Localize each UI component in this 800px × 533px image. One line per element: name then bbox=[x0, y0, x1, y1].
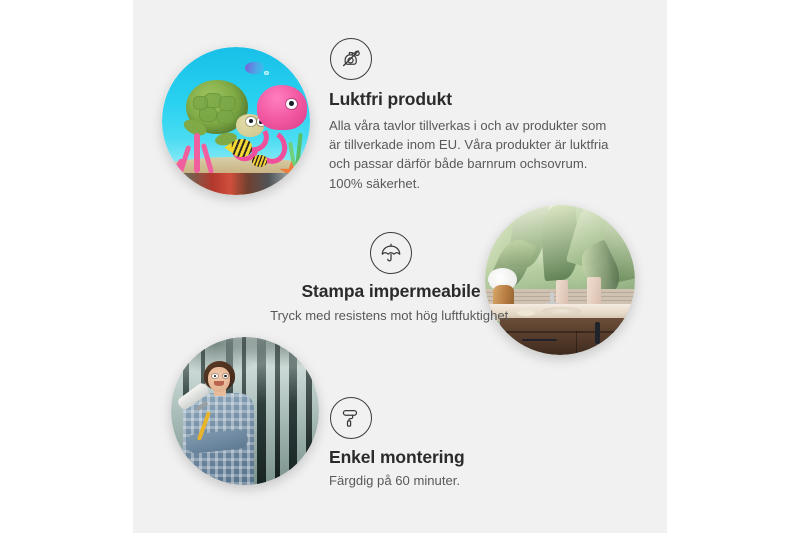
feature-block-waterproof: Stampa impermeabile Tryck med resistens … bbox=[221, 232, 561, 325]
umbrella-icon bbox=[370, 232, 412, 274]
blue-fish-icon bbox=[245, 62, 264, 75]
feature-title: Luktfri produkt bbox=[329, 89, 629, 110]
feature-block-easy-install: Enkel montering Färgdig på 60 minuter. bbox=[329, 397, 579, 490]
underwater-cartoon-circle bbox=[162, 47, 310, 195]
product-feature-panel: Luktfri produkt Alla våra tavlor tillver… bbox=[0, 0, 800, 533]
painter-smile bbox=[214, 381, 224, 385]
feature-block-odourless: Luktfri produkt Alla våra tavlor tillver… bbox=[329, 38, 629, 193]
painter-forest-image bbox=[171, 337, 319, 485]
ocean-foreground-strip bbox=[162, 173, 310, 195]
feature-description: Färgdig på 60 minuter. bbox=[329, 471, 579, 490]
feature-description: Alla våra tavlor tillverkas i och av pro… bbox=[329, 116, 614, 193]
feature-title: Enkel montering bbox=[329, 447, 579, 468]
painter-eye-icon bbox=[212, 374, 217, 378]
small-striped-fish-icon bbox=[252, 155, 267, 167]
cabinet-handle bbox=[595, 322, 600, 344]
content-panel: Luktfri produkt Alla våra tavlor tillver… bbox=[133, 0, 667, 533]
feature-title: Stampa impermeabile bbox=[221, 281, 561, 302]
painter-eye-icon bbox=[223, 374, 228, 378]
tree-trunk bbox=[289, 337, 296, 485]
drawer-handle bbox=[522, 339, 557, 341]
tree-trunk bbox=[257, 337, 266, 485]
feature-description: Tryck med resistens mot hög luftfuktighe… bbox=[221, 306, 561, 325]
painter-face bbox=[208, 367, 230, 392]
octopus-icon bbox=[257, 85, 307, 129]
tree-trunk bbox=[275, 337, 280, 485]
paint-roller-icon bbox=[330, 397, 372, 439]
bubble-icon bbox=[264, 71, 268, 75]
yellow-striped-fish-icon bbox=[230, 139, 252, 157]
tree-trunk bbox=[306, 337, 312, 485]
no-fragrance-icon bbox=[330, 38, 372, 80]
painter-forest-wallpaper-circle bbox=[171, 337, 319, 485]
underwater-cartoon-image bbox=[162, 47, 310, 195]
soap-bottle bbox=[587, 277, 601, 307]
octopus-eye-icon bbox=[286, 99, 296, 109]
